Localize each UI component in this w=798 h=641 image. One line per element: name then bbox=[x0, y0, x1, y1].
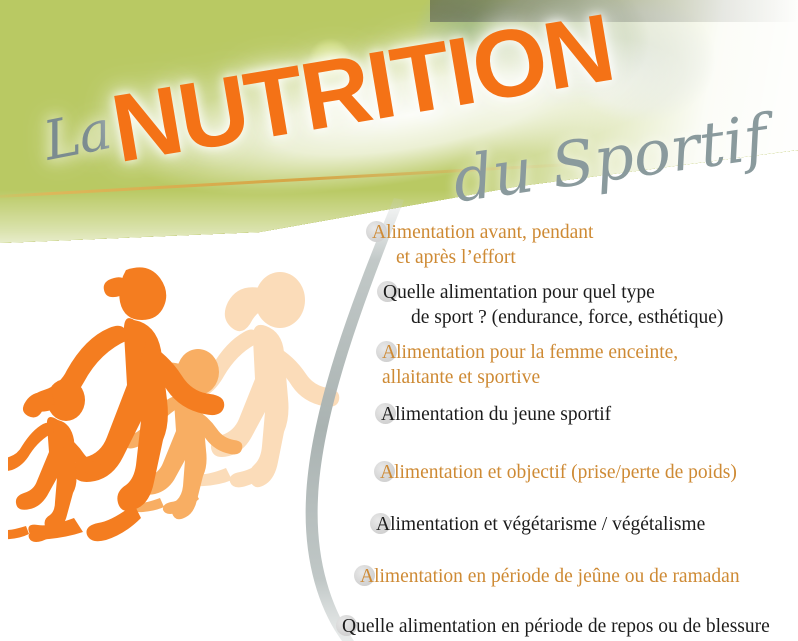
list-item-6[interactable]: Alimentation et végétarisme / végétalism… bbox=[376, 512, 705, 537]
list-item-4-line1: Alimentation du jeune sportif bbox=[381, 402, 611, 427]
list-item-6-line1: Alimentation et végétarisme / végétalism… bbox=[376, 512, 705, 537]
list-item-4[interactable]: Alimentation du jeune sportif bbox=[381, 402, 611, 427]
photo-top-shadow bbox=[430, 0, 798, 22]
list-item-1-line2: et après l’effort bbox=[396, 245, 593, 270]
running-family-silhouettes bbox=[8, 250, 348, 550]
list-item-2[interactable]: Quelle alimentation pour quel type de sp… bbox=[383, 280, 723, 330]
list-item-3-line1: Alimentation pour la femme enceinte, bbox=[382, 340, 678, 365]
list-item-1[interactable]: Alimentation avant, pendant et après l’e… bbox=[372, 220, 593, 270]
topics-list: Alimentation avant, pendant et après l’e… bbox=[336, 206, 798, 641]
list-item-3-line2: allaitante et sportive bbox=[382, 365, 678, 390]
list-item-1-line1: Alimentation avant, pendant bbox=[372, 220, 593, 245]
list-item-7[interactable]: Alimentation en période de jeûne ou de r… bbox=[360, 564, 740, 589]
list-item-2-line1: Quelle alimentation pour quel type bbox=[383, 280, 723, 305]
list-item-5-line1: Alimentation et objectif (prise/perte de… bbox=[380, 460, 737, 485]
list-item-7-line1: Alimentation en période de jeûne ou de r… bbox=[360, 564, 740, 589]
poster-canvas: La NUTRITION du Sportif bbox=[0, 0, 798, 641]
list-item-8[interactable]: Quelle alimentation en période de repos … bbox=[342, 614, 770, 639]
list-item-5[interactable]: Alimentation et objectif (prise/perte de… bbox=[380, 460, 737, 485]
list-item-3[interactable]: Alimentation pour la femme enceinte, all… bbox=[382, 340, 678, 390]
list-item-8-line1: Quelle alimentation en période de repos … bbox=[342, 614, 770, 639]
list-item-2-line2: de sport ? (endurance, force, esthétique… bbox=[411, 305, 723, 330]
